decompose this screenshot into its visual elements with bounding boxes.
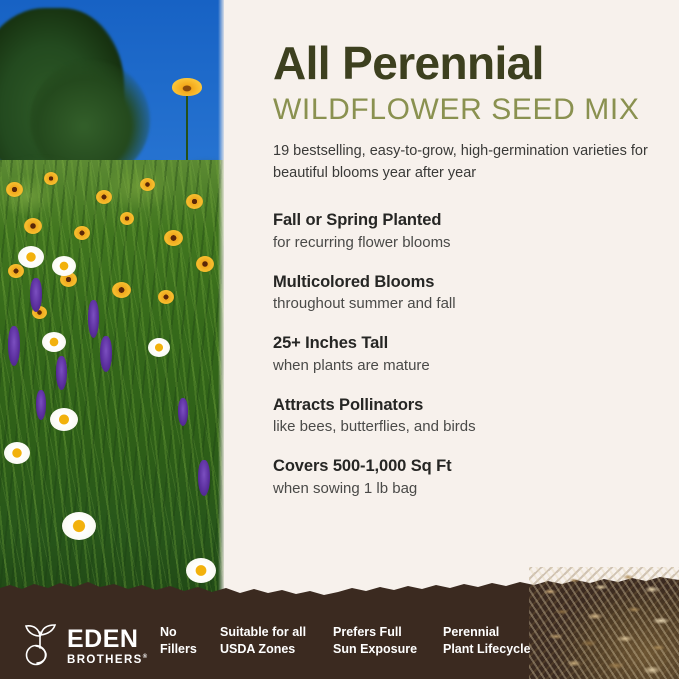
flower-rudbeckia — [74, 226, 90, 240]
flower-rudbeckia — [8, 264, 24, 278]
flower-salvia — [178, 398, 188, 426]
product-description: 19 bestselling, easy-to-grow, high-germi… — [273, 140, 649, 184]
flower-rudbeckia — [44, 172, 58, 185]
flower-daisy — [148, 338, 170, 357]
badge-no-fillers: No Fillers — [160, 624, 220, 659]
feature-item: Covers 500-1,000 Sq Ft when sowing 1 lb … — [273, 456, 649, 499]
product-subtitle: WILDFLOWER SEED MIX — [273, 93, 649, 128]
feature-subtext: for recurring flower blooms — [273, 233, 649, 253]
flower-salvia — [100, 336, 112, 372]
brand-name: EDEN — [67, 627, 149, 652]
feature-item: Attracts Pollinators like bees, butterfl… — [273, 395, 649, 438]
flower-daisy — [4, 442, 30, 464]
flower-daisy — [50, 408, 78, 431]
flower-rudbeckia — [186, 194, 203, 209]
feature-heading: Fall or Spring Planted — [273, 210, 649, 231]
feature-item: 25+ Inches Tall when plants are mature — [273, 333, 649, 376]
feature-heading: Multicolored Blooms — [273, 272, 649, 293]
torn-paper-edge — [0, 574, 679, 600]
flower-rudbeckia — [158, 290, 174, 304]
feature-list: Fall or Spring Planted for recurring flo… — [273, 210, 649, 498]
feature-heading: 25+ Inches Tall — [273, 333, 649, 354]
flower-rudbeckia — [140, 178, 155, 191]
flower-daisy — [42, 332, 66, 352]
badge-plant-lifecycle: Perennial Plant Lifecycle — [443, 624, 563, 659]
flower-rudbeckia — [196, 256, 214, 272]
badge-sun-exposure: Prefers Full Sun Exposure — [333, 624, 443, 659]
meadow-field — [0, 160, 224, 609]
flower-daisy — [52, 256, 76, 276]
flower-salvia — [88, 300, 99, 338]
feature-item: Multicolored Blooms throughout summer an… — [273, 272, 649, 315]
feature-subtext: when sowing 1 lb bag — [273, 479, 649, 499]
flower-salvia — [30, 278, 42, 312]
feature-subtext: like bees, butterflies, and birds — [273, 417, 649, 437]
feature-heading: Attracts Pollinators — [273, 395, 649, 416]
flower-rudbeckia — [96, 190, 112, 204]
product-infographic: All Perennial WILDFLOWER SEED MIX 19 bes… — [0, 0, 679, 679]
flower-salvia — [36, 390, 46, 420]
feature-item: Fall or Spring Planted for recurring flo… — [273, 210, 649, 253]
flower-rudbeckia — [120, 212, 134, 225]
flower-rudbeckia — [164, 230, 183, 246]
brand-subname: BROTHERS® — [67, 654, 149, 666]
feature-subtext: when plants are mature — [273, 356, 649, 376]
feature-heading: Covers 500-1,000 Sq Ft — [273, 456, 649, 477]
badge-row: No Fillers Suitable for all USDA Zones P… — [160, 624, 563, 659]
flower-salvia — [8, 326, 20, 366]
brand-logo[interactable]: EDEN BROTHERS® — [20, 622, 149, 671]
wildflower-meadow-photo — [0, 0, 224, 609]
flower-rudbeckia — [6, 182, 23, 197]
bottom-bar: EDEN BROTHERS® No Fillers Suitable for a… — [0, 600, 679, 679]
flower-daisy — [18, 246, 44, 268]
flower-rudbeckia — [24, 218, 42, 234]
tall-yellow-flower — [172, 78, 202, 96]
flower-rudbeckia — [112, 282, 131, 298]
product-title: All Perennial — [273, 40, 649, 87]
content-panel: All Perennial WILDFLOWER SEED MIX 19 bes… — [224, 0, 679, 609]
badge-usda-zones: Suitable for all USDA Zones — [220, 624, 333, 659]
flower-salvia — [198, 460, 210, 496]
sprout-icon — [20, 622, 60, 671]
feature-subtext: throughout summer and fall — [273, 294, 649, 314]
flower-daisy — [62, 512, 96, 540]
flower-salvia — [56, 356, 67, 390]
